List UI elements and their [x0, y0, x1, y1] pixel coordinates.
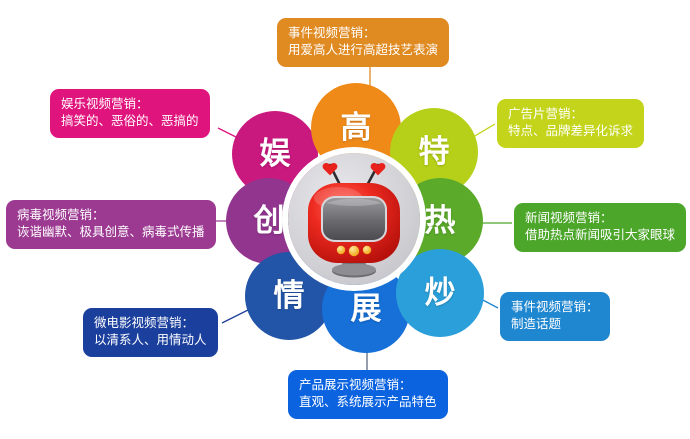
center-hub	[288, 153, 420, 285]
petal-chuang-label: 创	[254, 205, 285, 236]
callout-news-line2: 借助热点新闻吸引大家眼球	[525, 227, 675, 244]
callout-event-side-line1: 事件视频营销：	[511, 299, 599, 316]
callout-news[interactable]: 新闻视频营销： 借助热点新闻吸引大家眼球	[514, 203, 686, 252]
callout-product-line2: 直观、系统展示产品特色	[299, 394, 437, 411]
callout-commercial-line2: 特点、品牌差异化诉求	[508, 123, 633, 140]
callout-product[interactable]: 产品展示视频营销： 直观、系统展示产品特色	[288, 370, 448, 419]
callout-microfilm[interactable]: 微电影视频营销： 以清系人、用情动人	[83, 308, 218, 357]
petal-chao-label: 炒	[425, 277, 456, 308]
callout-event-side[interactable]: 事件视频营销： 制造话题	[500, 292, 610, 341]
petal-te-label: 特	[419, 136, 450, 167]
petal-yu-label: 娱	[260, 138, 291, 169]
callout-viral-line1: 病毒视频营销：	[17, 207, 205, 224]
callout-commercial[interactable]: 广告片营销： 特点、品牌差异化诉求	[497, 99, 644, 148]
callout-event-top-line2: 用爱高人进行高超技艺表演	[288, 42, 438, 59]
callout-entertainment-line2: 搞笑的、恶俗的、恶搞的	[61, 113, 199, 130]
petal-re-label: 热	[425, 205, 456, 236]
callout-microfilm-line1: 微电影视频营销：	[94, 315, 207, 332]
callout-commercial-line1: 广告片营销：	[508, 106, 633, 123]
callout-event-top[interactable]: 事件视频营销： 用爱高人进行高超技艺表演	[277, 18, 449, 67]
callout-viral[interactable]: 病毒视频营销： 诙谐幽默、极具创意、病毒式传播	[6, 200, 216, 249]
retro-tv-mascot-icon	[288, 153, 420, 285]
callout-event-side-line2: 制造话题	[511, 316, 599, 333]
callout-product-line1: 产品展示视频营销：	[299, 377, 437, 394]
petal-zhan-label: 展	[351, 293, 382, 324]
callout-entertainment[interactable]: 娱乐视频营销： 搞笑的、恶俗的、恶搞的	[50, 89, 210, 138]
callout-viral-line2: 诙谐幽默、极具创意、病毒式传播	[17, 224, 205, 241]
callout-event-top-line1: 事件视频营销：	[288, 25, 438, 42]
callout-entertainment-line1: 娱乐视频营销：	[61, 96, 199, 113]
infographic-canvas: 娱 高 特 创 热 情 展 炒	[0, 0, 690, 439]
petal-gao-label: 高	[341, 112, 372, 143]
callout-news-line1: 新闻视频营销：	[525, 210, 675, 227]
callout-microfilm-line2: 以清系人、用情动人	[94, 332, 207, 349]
